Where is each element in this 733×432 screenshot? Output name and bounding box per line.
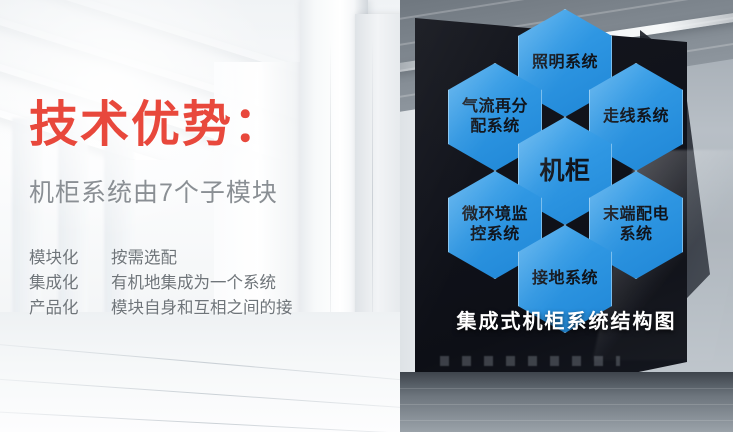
- floor: [0, 312, 420, 432]
- page-title: 技术优势：: [29, 101, 284, 150]
- floor-line: [0, 374, 420, 414]
- list-item-key: 产品化: [29, 296, 111, 321]
- hex-label: 微环境监控系统: [448, 205, 542, 245]
- slide-canvas: 技术优势： 机柜系统由7个子模块 模块化 按需选配 集成化 有机地集成为一个系统…: [0, 0, 733, 432]
- list-item: 模块化 按需选配: [29, 246, 293, 271]
- hex-label: 照明系统: [526, 53, 604, 73]
- left-background-photo: [0, 0, 420, 432]
- hexagon-diagram: 照明系统 气流再分配系统 走线系统 机柜 微环境监控系统 末端配电系统 接地系统…: [400, 0, 733, 432]
- hex-label: 走线系统: [597, 107, 675, 127]
- list-item-value: 模块自身和互相之间的接: [111, 296, 293, 321]
- diagram-caption: 集成式机柜系统结构图: [400, 305, 733, 334]
- hex-label: 接地系统: [526, 269, 604, 289]
- list-item-key: 集成化: [29, 271, 111, 296]
- floor-line: [0, 408, 420, 432]
- list-item-key: 模块化: [29, 246, 111, 271]
- list-item: 产品化 模块自身和互相之间的接: [29, 296, 293, 321]
- page-subtitle: 机柜系统由7个子模块: [29, 181, 278, 206]
- hex-label: 机柜: [533, 157, 596, 185]
- hex-label: 气流再分配系统: [448, 97, 542, 137]
- list-item: 集成化 有机地集成为一个系统: [29, 271, 293, 296]
- feature-list: 模块化 按需选配 集成化 有机地集成为一个系统 产品化 模块自身和互相之间的接: [29, 246, 293, 321]
- cabinet-side: [355, 14, 405, 362]
- cabinet-seam: [330, 40, 331, 356]
- list-item-value: 有机地集成为一个系统: [111, 271, 293, 296]
- hex-label: 末端配电系统: [589, 205, 683, 245]
- list-item-value: 按需选配: [111, 246, 293, 271]
- cabinet-seam: [372, 40, 373, 356]
- floor-line: [0, 338, 420, 388]
